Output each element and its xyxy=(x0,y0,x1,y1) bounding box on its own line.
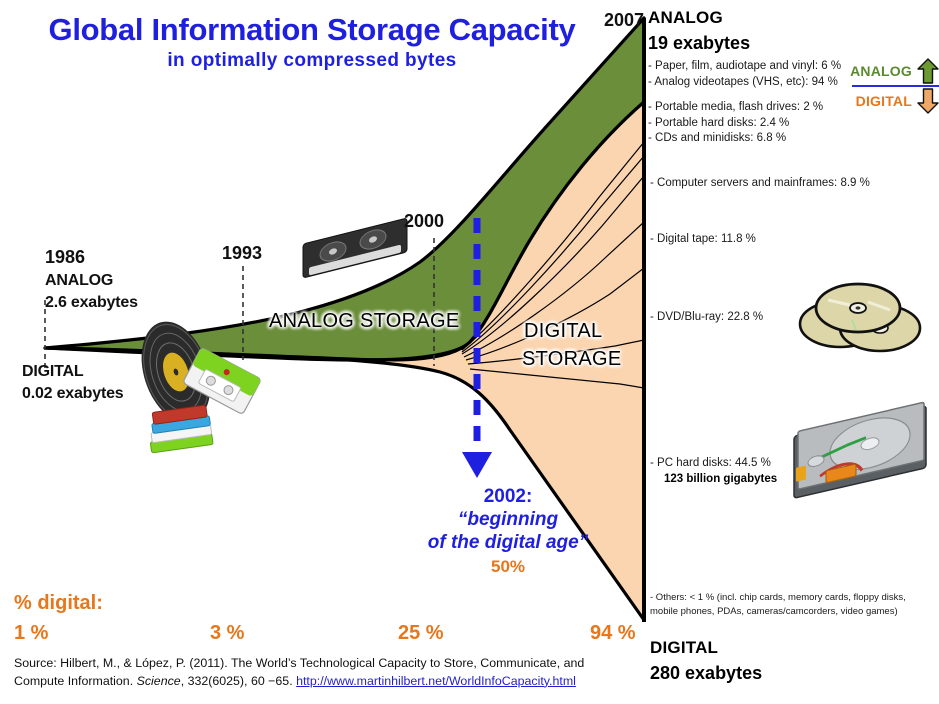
digital-storage-label-line1: DIGITAL xyxy=(524,320,602,343)
vhs-tape-icon xyxy=(303,218,407,278)
citation-line-2: Compute Information. Science, 332(6025),… xyxy=(14,673,674,691)
citation-line-2-a: Compute Information. xyxy=(14,674,137,688)
label-1986-digital-word: DIGITAL xyxy=(22,363,83,381)
year-label-2000: 2000 xyxy=(404,211,444,232)
cd-discs-icon xyxy=(800,284,920,351)
arrow-down-icon xyxy=(917,88,939,114)
source-link[interactable]: http://www.martinhilbert.net/WorldInfoCa… xyxy=(296,674,576,688)
analog-digital-divider xyxy=(852,85,939,87)
analog-storage-label: ANALOG STORAGE xyxy=(269,310,460,333)
annotation-quote-line2: of the digital age” xyxy=(418,531,598,554)
legend-analog-total: 19 exabytes xyxy=(648,33,939,54)
legend-item-cds-minidisks: - CDs and minidisks: 6.8 % xyxy=(648,131,939,147)
legend-item-others-line1: - Others: < 1 % (incl. chip cards, memor… xyxy=(650,592,906,605)
legend-analog-heading: ANALOG xyxy=(648,8,939,28)
title-block: Global Information Storage Capacity in o… xyxy=(22,14,602,72)
citation-journal: Science xyxy=(137,674,181,688)
hard-disk-icon xyxy=(794,402,926,498)
analog-key-row: ANALOG xyxy=(838,56,939,86)
legend-item-digital-tape: - Digital tape: 11.8 % xyxy=(650,232,756,248)
annotation-quote-line1: “beginning xyxy=(418,508,598,531)
year-label-2007: 2007 xyxy=(604,10,644,31)
legend-item-dvd-bluray: - DVD/Blu-ray: 22.8 % xyxy=(650,310,763,326)
source-citation: Source: Hilbert, M., & López, P. (2011).… xyxy=(14,655,674,690)
percent-value-1986: 1 % xyxy=(14,622,48,645)
legend-item-pc-hard-disks-note: 123 billion gigabytes xyxy=(664,473,777,485)
digital-storage-label-line2: STORAGE xyxy=(522,348,622,371)
label-1986-digital-value: 0.02 exabytes xyxy=(22,385,123,403)
label-1986-analog-value: 2.6 exabytes xyxy=(45,294,138,312)
legend-item-pc-hard-disks: - PC hard disks: 44.5 % xyxy=(650,456,771,472)
page-title: Global Information Storage Capacity xyxy=(22,14,602,47)
digital-age-annotation: 2002: “beginning of the digital age” 50% xyxy=(418,485,598,577)
legend-item-portable-hard-disks: - Portable hard disks: 2.4 % xyxy=(648,116,939,132)
annotation-percent: 50% xyxy=(418,557,598,578)
percent-value-1993: 3 % xyxy=(210,622,244,645)
analog-key-label: ANALOG xyxy=(850,63,912,79)
citation-line-2-b: , 332(6025), 60 −65. xyxy=(181,674,296,688)
books-stack-icon xyxy=(146,405,213,453)
percent-value-2007: 94 % xyxy=(590,622,636,645)
legend-item-servers: - Computer servers and mainframes: 8.9 % xyxy=(650,176,870,192)
digital-key-row: DIGITAL xyxy=(838,86,939,116)
arrow-up-icon xyxy=(917,58,939,84)
annotation-year: 2002: xyxy=(418,485,598,508)
label-1986-analog-word: ANALOG xyxy=(45,272,113,290)
page-subtitle: in optimally compressed bytes xyxy=(22,50,602,72)
percent-value-2000: 25 % xyxy=(398,622,444,645)
percent-digital-caption: % digital: xyxy=(14,592,103,615)
legend-item-others-line2: mobile phones, PDAs, cameras/camcorders,… xyxy=(650,606,898,619)
year-label-1986: 1986 xyxy=(45,247,85,268)
digital-key-label: DIGITAL xyxy=(856,93,912,109)
year-label-1993: 1993 xyxy=(222,243,262,264)
citation-line-1: Source: Hilbert, M., & López, P. (2011).… xyxy=(14,655,674,673)
